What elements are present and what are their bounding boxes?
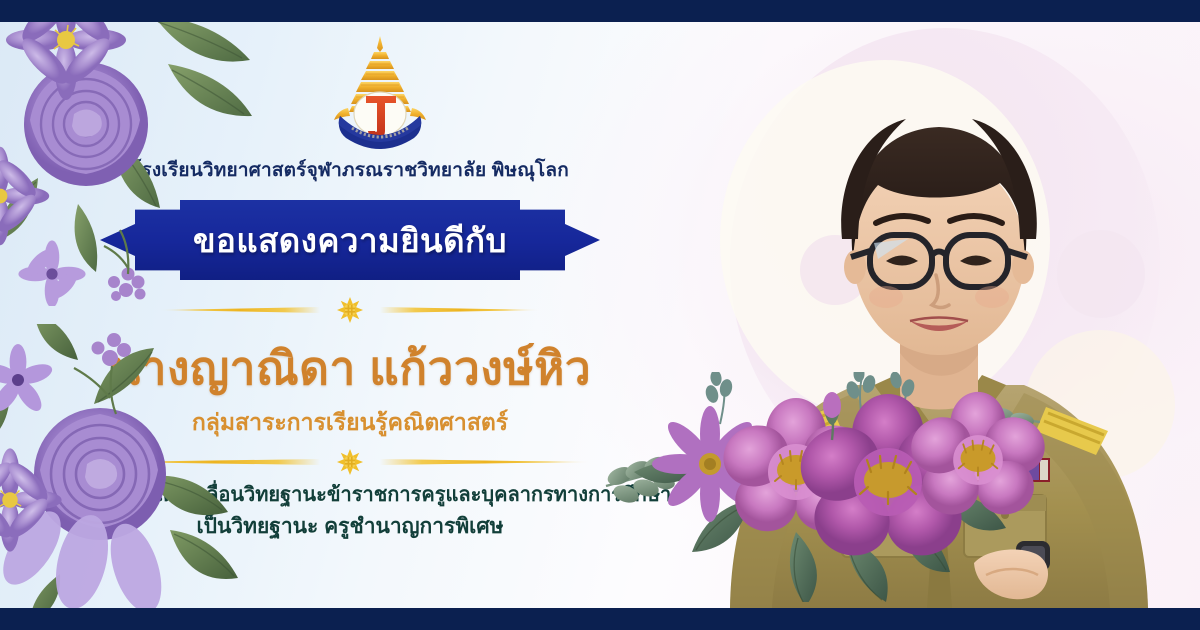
top-accent-bar <box>0 0 1200 22</box>
ribbon-label: ขอแสดงความยินดีกับ <box>100 200 600 280</box>
occasion-line-2: เป็นวิทยฐานะ ครูชำนาญการพิเศษ <box>0 511 700 542</box>
school-name-heading: โรงเรียนวิทยาศาสตร์จุฬาภรณราชวิทยาลัย พิ… <box>0 155 700 185</box>
congratulation-ribbon: ขอแสดงความยินดีกับ <box>100 200 600 280</box>
text-content-column: โรงเรียนวิทยาศาสตร์จุฬาภรณราชวิทยาลัย พิ… <box>0 0 700 630</box>
department-label: กลุ่มสาระการเรียนรู้คณิตศาสตร์ <box>0 405 700 441</box>
honoree-portrait-photo <box>724 63 1154 608</box>
occasion-text-block: เนื่องในโอกาสได้รับเลื่อนวิทยฐานะข้าราชก… <box>0 480 700 542</box>
gold-divider-top <box>0 297 700 323</box>
congratulation-certificate-card: โรงเรียนวิทยาศาสตร์จุฬาภรณราชวิทยาลัย พิ… <box>0 0 1200 630</box>
occasion-line-1: เนื่องในโอกาสได้รับเลื่อนวิทยฐานะข้าราชก… <box>0 480 700 511</box>
bottom-accent-bar <box>0 608 1200 630</box>
honoree-name: นางญาณิดา แก้ววงษ์หิว <box>0 332 700 405</box>
gold-divider-bottom <box>0 449 700 475</box>
